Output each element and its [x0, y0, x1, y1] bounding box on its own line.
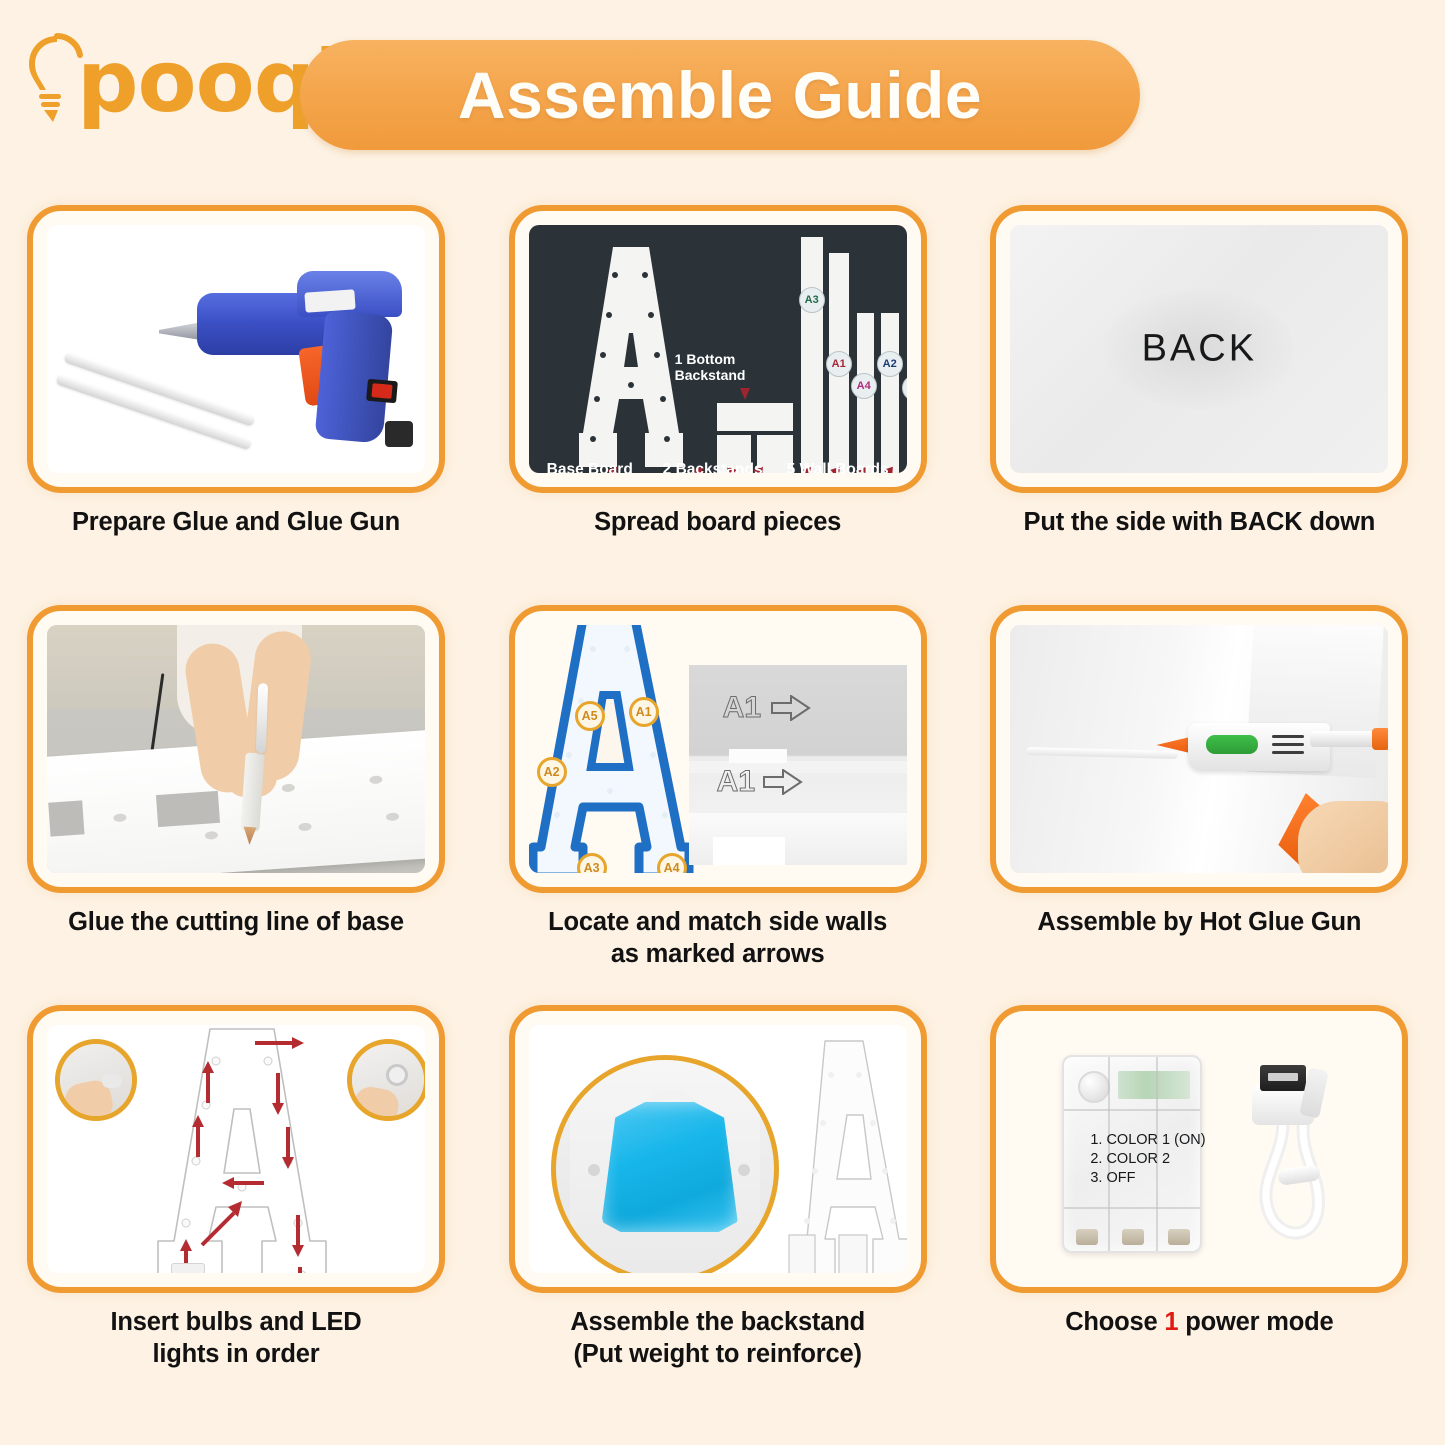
step-caption-4: Glue the cutting line of base [0, 907, 472, 939]
inset-photo-insert-bulb [55, 1039, 137, 1121]
power-mode-2: 2. COLOR 2 [1090, 1150, 1205, 1169]
glue-gun-brand-label [1206, 735, 1258, 754]
battery-cell-icon [1168, 1229, 1190, 1245]
brand-logo: pooqla [22, 24, 292, 139]
backstand-piece [717, 403, 793, 431]
box-divider [1064, 1207, 1200, 1209]
step-image-6 [990, 605, 1408, 893]
wall-board-a3 [801, 237, 823, 473]
wall-marker-a5: A5 [575, 701, 605, 731]
piece-marker-a1: A1 [826, 351, 852, 377]
power-mode-3: 3. OFF [1090, 1169, 1205, 1188]
step-image-7 [27, 1005, 445, 1293]
caption-part-before: Choose [1065, 1308, 1164, 1336]
screw-icon [738, 1164, 750, 1176]
side-wall-arrow-photo: A1 A1 [689, 665, 907, 865]
bulb-hole [386, 812, 400, 821]
bulb-hole [205, 831, 219, 840]
step-card-2: A3 A1 A4 A2 A5 1 Bottom Backstand [482, 195, 964, 595]
wall-marker-a3: A3 [577, 853, 607, 873]
glue-gun-cord-icon [385, 421, 413, 447]
glue-gun-handle-icon [315, 310, 394, 443]
board-tab [729, 749, 787, 763]
step-card-3: BACK Put the side with BACK down [963, 195, 1445, 595]
battery-box-icon [171, 1263, 205, 1273]
usb-cable-icon [1242, 1059, 1362, 1249]
power-mode-list: 1. COLOR 1 (ON) 2. COLOR 2 3. OFF [1090, 1131, 1205, 1188]
wall-marker-a1: A1 [629, 697, 659, 727]
step-card-1: Prepare Glue and Glue Gun [0, 195, 482, 595]
vent-slot-icon [1272, 751, 1304, 754]
step-caption-3: Put the side with BACK down [963, 507, 1435, 539]
steps-grid: Prepare Glue and Glue Gun [0, 195, 1445, 1445]
step-caption-5: Locate and match side walls as marked ar… [482, 907, 954, 970]
label-backstands: 2 Backstands [663, 461, 763, 473]
step-image-4 [27, 605, 445, 893]
back-board-photo: BACK [1010, 225, 1388, 473]
step-caption-1: Prepare Glue and Glue Gun [0, 507, 472, 539]
arrow-label-a1-top: A1 [723, 691, 761, 725]
gluing-base-photo [47, 625, 425, 873]
hand [1298, 801, 1388, 873]
inset-photo-water-bag [551, 1055, 779, 1273]
step-image-9: 1. COLOR 1 (ON) 2. COLOR 2 3. OFF [990, 1005, 1408, 1293]
step-caption-2: Spread board pieces [482, 507, 954, 539]
hot-glue-gun-photo [1010, 625, 1388, 873]
back-label-text: BACK [1142, 328, 1257, 371]
glue-stick-icon [1310, 731, 1380, 747]
power-source-photo: 1. COLOR 1 (ON) 2. COLOR 2 3. OFF [1010, 1025, 1388, 1273]
glue-gun-label-icon [304, 289, 355, 312]
piece-marker-a3: A3 [799, 287, 825, 313]
title-banner: Assemble Guide [300, 40, 1140, 150]
bulb-icon [386, 1064, 408, 1086]
water-bag-icon [602, 1102, 738, 1232]
board-slot [156, 791, 220, 827]
battery-cell-icon [1122, 1229, 1144, 1245]
letter-a-outline-icon [529, 625, 698, 873]
piece-marker-a2: A2 [877, 351, 903, 377]
inset-photo-screw-bulb [347, 1039, 425, 1121]
assemble-guide-page: pooqla Assemble Guide [0, 0, 1445, 1445]
step-image-1 [27, 205, 445, 493]
side-walls-photo: A5 A1 A2 A3 A4 A1 [529, 625, 907, 873]
step-caption-8: Assemble the backstand (Put weight to re… [482, 1307, 954, 1370]
label-wall-boards: 5 Wall Boards [787, 461, 889, 473]
bulb-hole [282, 783, 296, 792]
page-title: Assemble Guide [300, 40, 1140, 150]
bulb-icon [102, 1074, 122, 1088]
circuit-board-icon [1118, 1071, 1190, 1099]
vent-slot-icon [1272, 743, 1304, 746]
step-card-7: Insert bulbs and LED lights in order [0, 995, 482, 1445]
piece-marker-a4: A4 [851, 373, 877, 399]
step-image-2: A3 A1 A4 A2 A5 1 Bottom Backstand [509, 205, 927, 493]
battery-box-icon: 1. COLOR 1 (ON) 2. COLOR 2 3. OFF [1062, 1055, 1202, 1253]
power-mode-1: 1. COLOR 1 (ON) [1090, 1131, 1205, 1150]
right-arrow-icon [763, 769, 803, 795]
bulb-hole [113, 813, 127, 822]
screw-icon [588, 1164, 600, 1176]
step-card-9: 1. COLOR 1 (ON) 2. COLOR 2 3. OFF [963, 995, 1445, 1445]
step-card-5: A5 A1 A2 A3 A4 A1 [482, 595, 964, 995]
usb-a-plug-icon [1260, 1065, 1306, 1091]
step-image-8 [509, 1005, 927, 1293]
step-card-4: Glue the cutting line of base [0, 595, 482, 995]
assembled-letter-a-icon [777, 1039, 907, 1273]
wall-marker-a4: A4 [657, 853, 687, 873]
board-lower-tab [713, 837, 785, 865]
bulb-hole [369, 775, 383, 784]
power-button-icon[interactable] [1078, 1071, 1110, 1103]
caption-highlight: 1 [1164, 1308, 1178, 1336]
step-caption-6: Assemble by Hot Glue Gun [963, 907, 1435, 939]
box-divider [1064, 1109, 1200, 1111]
wall-board-a2 [881, 313, 899, 473]
base-board-letter-a-icon [571, 247, 691, 467]
wall-marker-a2: A2 [537, 757, 567, 787]
arrow-label-text: A1 [717, 765, 755, 798]
backstand-photo [529, 1025, 907, 1273]
step-card-8: Assemble the backstand (Put weight to re… [482, 995, 964, 1445]
board-slot [48, 800, 84, 836]
right-arrow-icon [771, 695, 811, 721]
piece-marker-a5: A5 [902, 375, 907, 401]
arrow-label-a1-bottom: A1 [717, 765, 755, 799]
step-image-3: BACK [990, 205, 1408, 493]
arrow-label-text: A1 [723, 691, 761, 724]
bulb-order-diagram [47, 1025, 425, 1273]
bottom-backstand-note: 1 Bottom Backstand [675, 351, 746, 383]
label-base-board: Base Board [547, 461, 633, 473]
battery-cell-icon [1076, 1229, 1098, 1245]
step-image-5: A5 A1 A2 A3 A4 A1 [509, 605, 927, 893]
board-pieces-diagram: A3 A1 A4 A2 A5 1 Bottom Backstand [529, 225, 907, 473]
vent-slot-icon [1272, 735, 1304, 738]
page-header: pooqla Assemble Guide [0, 0, 1445, 195]
letter-a-outline-icon [142, 1027, 342, 1273]
step-card-6: Assemble by Hot Glue Gun [963, 595, 1445, 995]
step-caption-7: Insert bulbs and LED lights in order [0, 1307, 472, 1370]
caption-part-after: power mode [1178, 1308, 1333, 1336]
glue-gun-photo [47, 225, 425, 473]
bulb-hole [298, 822, 312, 831]
step-caption-9: Choose 1 power mode [963, 1307, 1435, 1339]
power-switch-icon [366, 379, 398, 404]
note-arrow-icon [740, 388, 750, 400]
